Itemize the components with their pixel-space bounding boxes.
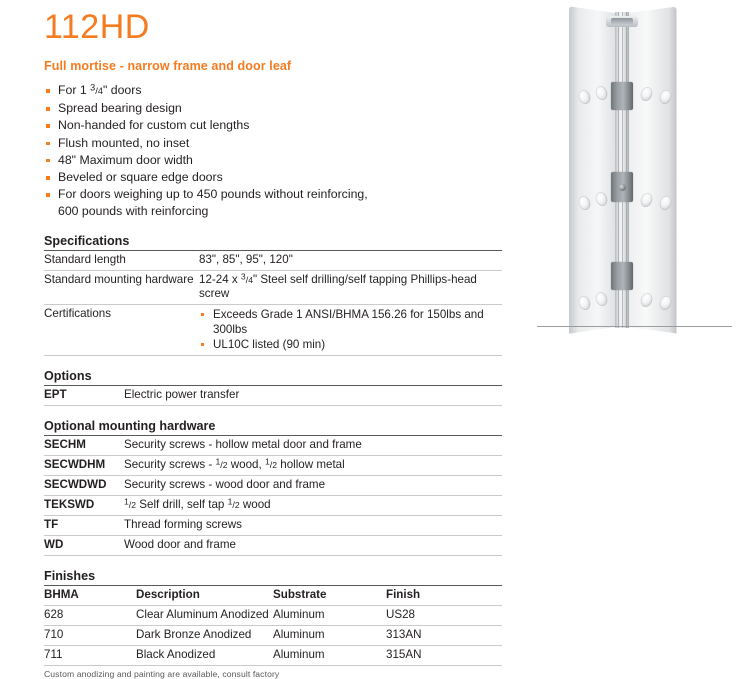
finish-finish: 313AN xyxy=(386,625,502,645)
hardware-code: SECWDHM xyxy=(44,455,124,475)
table-row: Standard mounting hardware 12-24 x 3/4" … xyxy=(44,270,502,304)
content-column: 112HD Full mortise - narrow frame and do… xyxy=(44,0,506,679)
spec-label: Certifications xyxy=(44,304,199,355)
table-row: EPT Electric power transfer xyxy=(44,386,502,406)
section-heading-specifications: Specifications xyxy=(44,234,502,251)
spec-sheet-page: 112HD Full mortise - narrow frame and do… xyxy=(0,0,740,543)
hardware-code: SECHM xyxy=(44,436,124,456)
table-row: TF Thread forming screws xyxy=(44,515,502,535)
column-header-substrate: Substrate xyxy=(273,586,386,606)
optional-mounting-hardware-section: Optional mounting hardware SECHM Securit… xyxy=(44,419,506,556)
finishes-footnote: Custom anodizing and painting are availa… xyxy=(44,669,506,679)
column-header-description: Description xyxy=(136,586,273,606)
product-subtitle: Full mortise - narrow frame and door lea… xyxy=(44,59,506,73)
list-item: UL10C listed (90 min) xyxy=(199,337,502,352)
list-item: 48" Maximum door width xyxy=(44,152,506,169)
hardware-description: Thread forming screws xyxy=(124,515,502,535)
table-header-row: BHMA Description Substrate Finish xyxy=(44,586,502,606)
finish-description: Dark Bronze Anodized xyxy=(136,625,273,645)
baseline-rule xyxy=(537,326,732,327)
screw-icon xyxy=(619,184,626,191)
page-title: 112HD xyxy=(44,10,506,44)
table-row: SECWDWD Security screws - wood door and … xyxy=(44,475,502,495)
list-item: For doors weighing up to 450 pounds with… xyxy=(44,186,506,220)
finishes-table: BHMA Description Substrate Finish 628 Cl… xyxy=(44,586,502,666)
specifications-section: Specifications Standard length 83", 85",… xyxy=(44,234,506,356)
finish-substrate: Aluminum xyxy=(273,625,386,645)
table-row: Standard length 83", 85", 95", 120" xyxy=(44,251,502,271)
specifications-table: Standard length 83", 85", 95", 120" Stan… xyxy=(44,251,502,356)
optional-mounting-hardware-table: SECHM Security screws - hollow metal doo… xyxy=(44,436,502,556)
column-header-finish: Finish xyxy=(386,586,502,606)
certification-list: Exceeds Grade 1 ANSI/BHMA 156.26 for 150… xyxy=(199,307,502,352)
finish-substrate: Aluminum xyxy=(273,645,386,665)
option-description: Electric power transfer xyxy=(124,386,502,406)
hardware-description: Wood door and frame xyxy=(124,535,502,555)
finish-bhma: 628 xyxy=(44,605,136,625)
spec-value: Exceeds Grade 1 ANSI/BHMA 156.26 for 150… xyxy=(199,304,502,355)
finishes-section: Finishes BHMA Description Substrate Fini… xyxy=(44,569,506,679)
finish-bhma: 710 xyxy=(44,625,136,645)
table-row: 710 Dark Bronze Anodized Aluminum 313AN xyxy=(44,625,502,645)
hardware-code: WD xyxy=(44,535,124,555)
column-header-bhma: BHMA xyxy=(44,586,136,606)
spec-label: Standard length xyxy=(44,251,199,271)
table-row: 711 Black Anodized Aluminum 315AN xyxy=(44,645,502,665)
list-item: Spread bearing design xyxy=(44,100,506,117)
spec-value: 83", 85", 95", 120" xyxy=(199,251,502,271)
hinge-top-cap-inner xyxy=(611,18,633,25)
hardware-description: Security screws - 1/2 wood, 1/2 hollow m… xyxy=(124,455,502,475)
list-item: Beveled or square edge doors xyxy=(44,169,506,186)
finish-substrate: Aluminum xyxy=(273,605,386,625)
options-table: EPT Electric power transfer xyxy=(44,386,502,406)
hardware-description: Security screws - wood door and frame xyxy=(124,475,502,495)
feature-list: For 1 3/4" doors Spread bearing design N… xyxy=(44,82,506,221)
table-row: SECWDHM Security screws - 1/2 wood, 1/2 … xyxy=(44,455,502,475)
finish-finish: US28 xyxy=(386,605,502,625)
hardware-code: TF xyxy=(44,515,124,535)
hinge-knuckle xyxy=(611,172,633,202)
spec-label: Standard mounting hardware xyxy=(44,270,199,304)
table-row: Certifications Exceeds Grade 1 ANSI/BHMA… xyxy=(44,304,502,355)
list-item: Exceeds Grade 1 ANSI/BHMA 156.26 for 150… xyxy=(199,307,502,337)
section-heading-options: Options xyxy=(44,369,502,386)
hardware-code: SECWDWD xyxy=(44,475,124,495)
hardware-code: TEKSWD xyxy=(44,495,124,515)
table-row: WD Wood door and frame xyxy=(44,535,502,555)
list-item: Non-handed for custom cut lengths xyxy=(44,117,506,134)
option-code: EPT xyxy=(44,386,124,406)
list-item: Flush mounted, no inset xyxy=(44,135,506,152)
table-row: 628 Clear Aluminum Anodized Aluminum US2… xyxy=(44,605,502,625)
product-image-continuous-hinge xyxy=(527,0,740,340)
finish-description: Black Anodized xyxy=(136,645,273,665)
section-heading-optional-mounting-hardware: Optional mounting hardware xyxy=(44,419,502,436)
finish-bhma: 711 xyxy=(44,645,136,665)
options-section: Options EPT Electric power transfer xyxy=(44,369,506,406)
table-row: TEKSWD 1/2 Self drill, self tap 1/2 wood xyxy=(44,495,502,515)
finish-finish: 315AN xyxy=(386,645,502,665)
table-row: SECHM Security screws - hollow metal doo… xyxy=(44,436,502,456)
finish-description: Clear Aluminum Anodized xyxy=(136,605,273,625)
section-heading-finishes: Finishes xyxy=(44,569,502,586)
hardware-description: Security screws - hollow metal door and … xyxy=(124,436,502,456)
hinge-knuckle xyxy=(611,82,633,110)
hinge-knuckle xyxy=(611,262,633,290)
list-item: For 1 3/4" doors xyxy=(44,82,506,100)
spec-value: 12-24 x 3/4" Steel self drilling/self ta… xyxy=(199,270,502,304)
hardware-description: 1/2 Self drill, self tap 1/2 wood xyxy=(124,495,502,515)
hinge-illustration xyxy=(527,0,740,340)
